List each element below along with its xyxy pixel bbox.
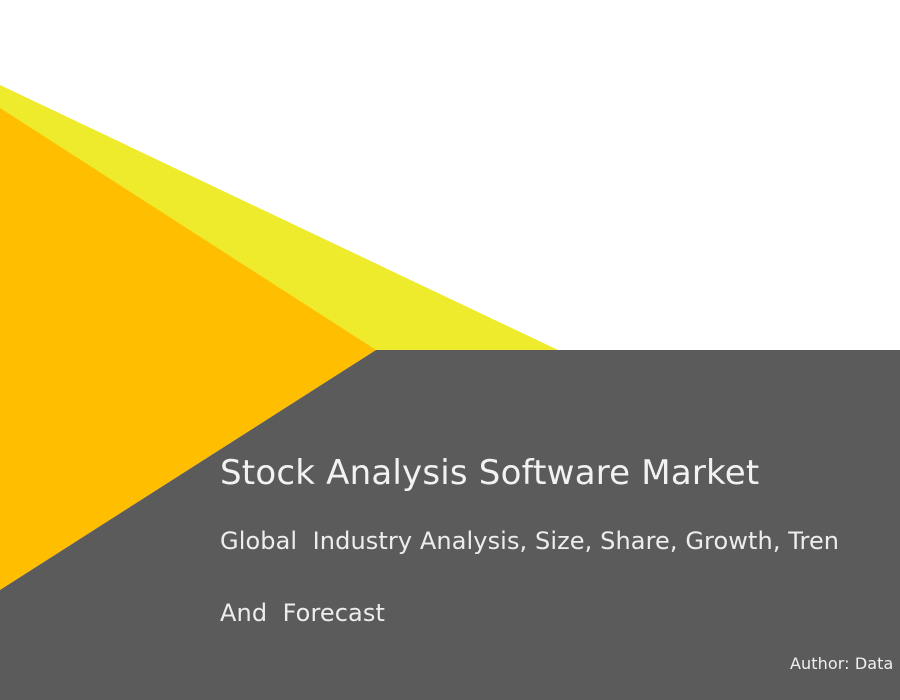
subtitle-line-2: And Forecast (220, 566, 900, 638)
page-title: Stock Analysis Software Market (220, 452, 900, 494)
title-slide: Stock Analysis Software Market Global In… (0, 0, 900, 700)
author-label: Author: Data (790, 653, 893, 675)
title-block: Stock Analysis Software Market Global In… (220, 452, 900, 638)
subtitle-line-1: Global Industry Analysis, Size, Share, G… (220, 494, 900, 566)
